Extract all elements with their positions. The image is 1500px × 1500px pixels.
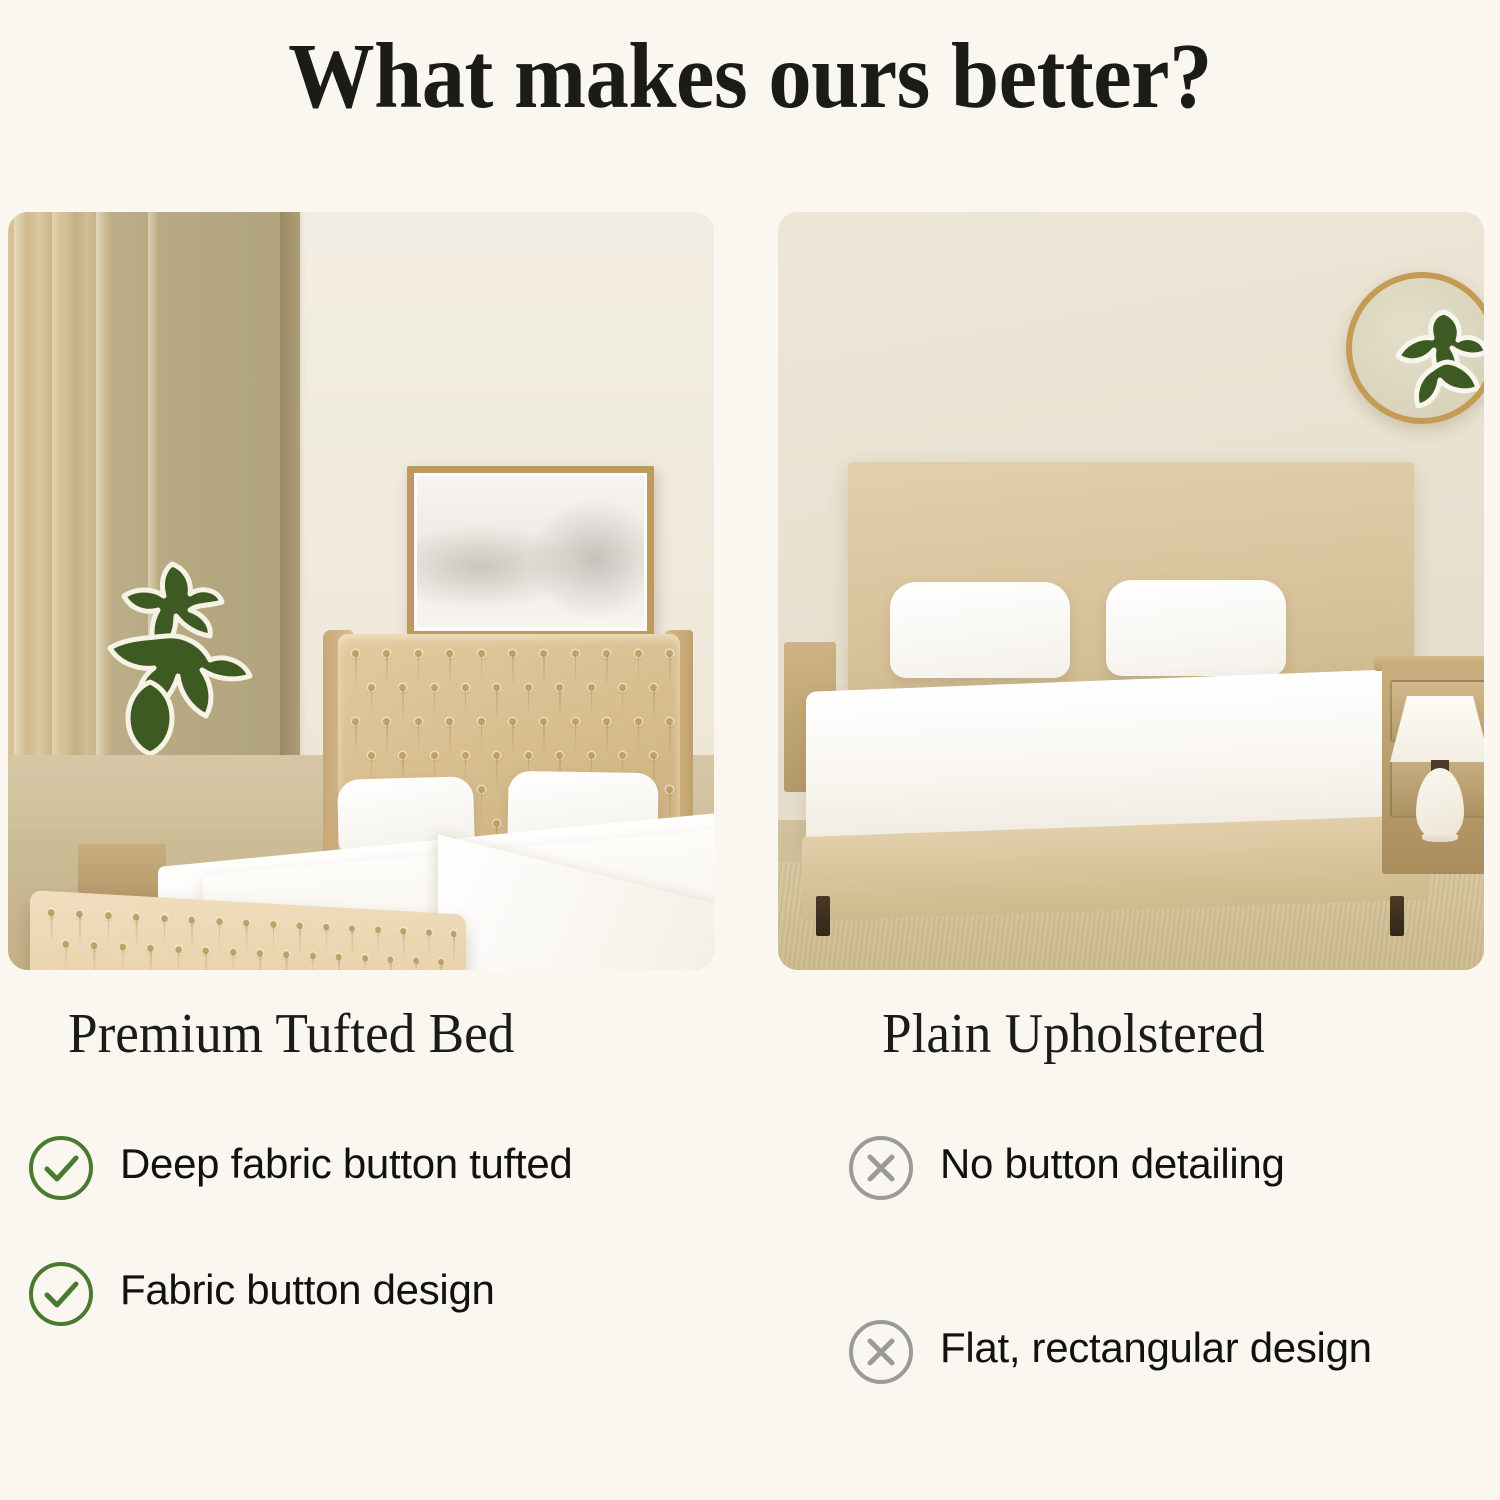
feature-label: Flat, rectangular design bbox=[940, 1317, 1372, 1375]
bed-leg bbox=[816, 896, 830, 936]
bed-leg bbox=[1390, 896, 1404, 936]
feature-list-right: No button detailing Flat, rectangular de… bbox=[846, 1133, 1486, 1421]
product-label-right: Plain Upholstered bbox=[882, 1002, 1265, 1066]
product-image-plain-upholstered-bed bbox=[778, 212, 1484, 970]
check-circle-icon bbox=[26, 1259, 96, 1329]
list-item: Fabric button design bbox=[26, 1259, 666, 1329]
pillow bbox=[1106, 580, 1286, 676]
framed-wall-art bbox=[407, 466, 654, 638]
feature-list-left: Deep fabric button tufted Fabric button … bbox=[26, 1133, 666, 1363]
feature-label: Fabric button design bbox=[120, 1259, 495, 1317]
monstera-plant-icon bbox=[80, 550, 265, 760]
list-item: Deep fabric button tufted bbox=[26, 1133, 666, 1203]
page-title: What makes ours better? bbox=[53, 26, 1448, 128]
x-circle-icon bbox=[846, 1133, 916, 1203]
list-item: Flat, rectangular design bbox=[846, 1317, 1486, 1387]
pillow bbox=[890, 582, 1070, 678]
product-image-premium-tufted-bed bbox=[8, 212, 714, 970]
feature-label: Deep fabric button tufted bbox=[120, 1133, 572, 1191]
feature-label: No button detailing bbox=[940, 1133, 1285, 1191]
lamp-base bbox=[1422, 832, 1458, 842]
scene-premium-tufted-bed bbox=[8, 212, 714, 970]
list-item: No button detailing bbox=[846, 1133, 1486, 1203]
scene-plain-upholstered-bed bbox=[778, 212, 1484, 970]
product-label-left: Premium Tufted Bed bbox=[68, 1002, 514, 1066]
x-circle-icon bbox=[846, 1317, 916, 1387]
leaf-icon bbox=[1386, 304, 1484, 408]
check-circle-icon bbox=[26, 1133, 96, 1203]
